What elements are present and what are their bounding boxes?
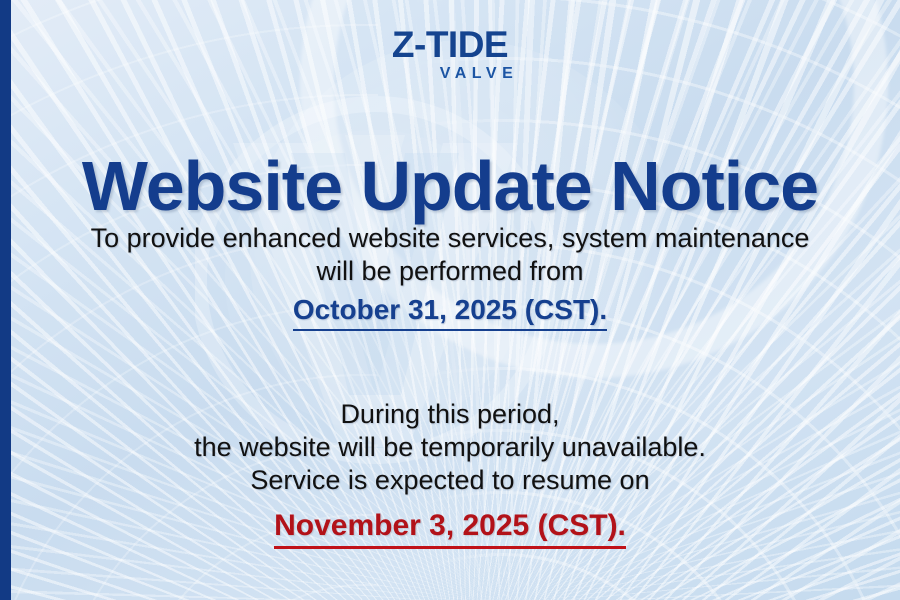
downtime-line-1: During this period, [0, 398, 900, 431]
maintenance-start-date-text: October 31, 2025 (CST). [293, 293, 607, 331]
maintenance-intro-paragraph: To provide enhanced website services, sy… [0, 222, 900, 288]
notice-content: Z-TIDE VALVE Website Update Notice To pr… [0, 0, 900, 600]
maintenance-start-date: October 31, 2025 (CST). [0, 293, 900, 331]
downtime-line-3: Service is expected to resume on [0, 464, 900, 497]
service-resume-date: November 3, 2025 (CST). [0, 508, 900, 549]
page-title: Website Update Notice [0, 151, 900, 222]
maintenance-intro-line-1: To provide enhanced website services, sy… [0, 222, 900, 255]
downtime-line-2: the website will be temporarily unavaila… [0, 431, 900, 464]
brand-tagline: VALVE [0, 66, 900, 82]
maintenance-intro-line-2: will be performed from [0, 255, 900, 288]
website-update-notice-banner: Z-TIDE VALVE Website Update Notice To pr… [0, 0, 900, 600]
service-resume-date-text: November 3, 2025 (CST). [274, 508, 626, 549]
brand-logo: Z-TIDE VALVE [0, 26, 900, 82]
brand-name: Z-TIDE [0, 26, 900, 63]
downtime-paragraph: During this period, the website will be … [0, 398, 900, 497]
